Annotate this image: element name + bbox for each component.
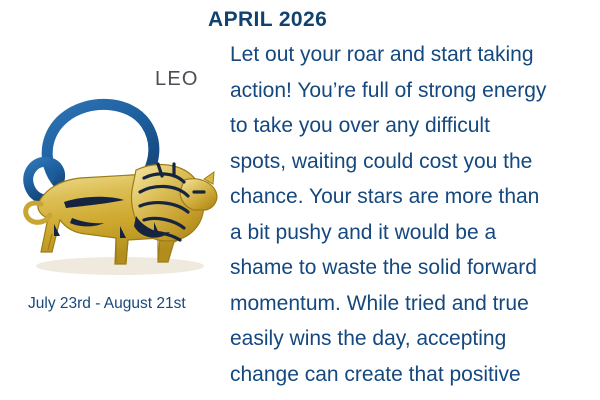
horoscope-card: LEO July 23rd - August 21st APRIL 2026 L… xyxy=(0,0,600,400)
horoscope-text: Let out your roar and start taking actio… xyxy=(230,37,596,400)
month-year-heading: APRIL 2026 xyxy=(208,8,327,32)
horoscope-line: action! You’re full of strong energy xyxy=(230,73,596,109)
horoscope-line: to take you over any difficult xyxy=(230,108,596,144)
horoscope-line: motion you are looking for. xyxy=(230,392,596,400)
horoscope-line: easily wins the day, accepting xyxy=(230,321,596,357)
sign-name-label: LEO xyxy=(155,68,199,91)
horoscope-line: momentum. While tried and true xyxy=(230,286,596,322)
horoscope-line: chance. Your stars are more than xyxy=(230,179,596,215)
horoscope-line: shame to waste the solid forward xyxy=(230,250,596,286)
horoscope-line: spots, waiting could cost you the xyxy=(230,144,596,180)
horoscope-line: Let out your roar and start taking xyxy=(230,37,596,73)
horoscope-line: change can create that positive xyxy=(230,357,596,393)
sign-date-range: July 23rd - August 21st xyxy=(28,295,186,313)
artwork-panel: LEO July 23rd - August 21st xyxy=(0,0,228,400)
horoscope-line: a bit pushy and it would be a xyxy=(230,215,596,251)
